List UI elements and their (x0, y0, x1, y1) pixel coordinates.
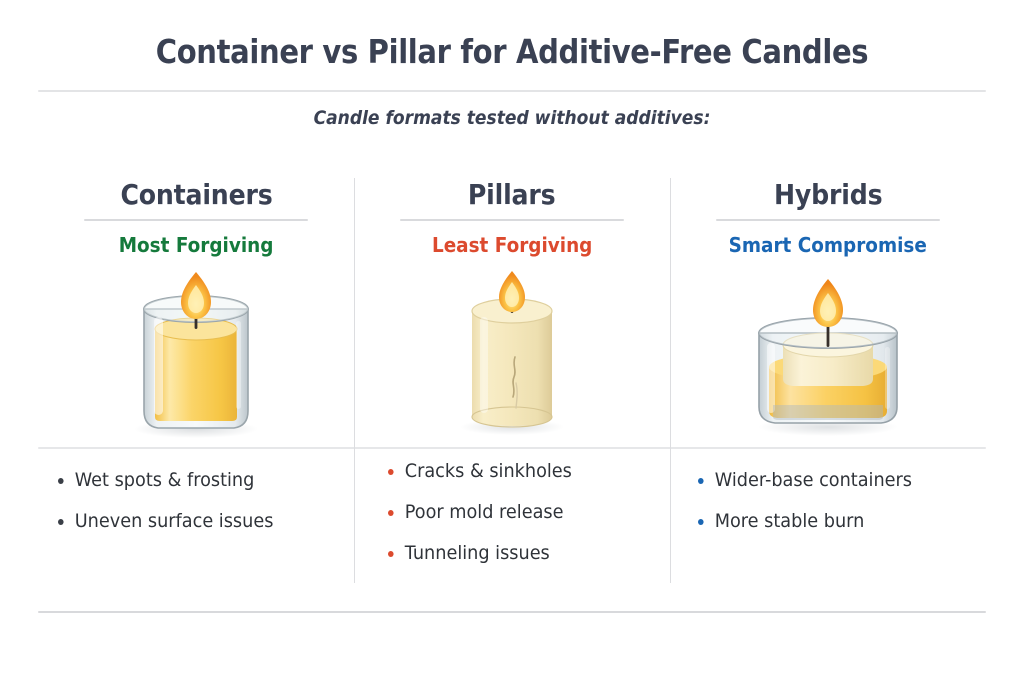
bullet-text: Uneven surface issues (75, 510, 274, 532)
page-title: Container vs Pillar for Additive-Free Ca… (61, 32, 962, 71)
column-containers: Containers Most Forgiving (38, 168, 354, 583)
column-hybrids: Hybrids Smart Compromise (670, 168, 986, 583)
column-heading-pillars: Pillars (468, 178, 556, 211)
bullet-text: Poor mold release (405, 501, 564, 523)
bullet-dot-icon (388, 469, 394, 475)
bullet-text: Tunneling issues (405, 542, 550, 564)
section-divider-bottom (38, 611, 986, 613)
column-verdict-containers: Most Forgiving (119, 233, 274, 257)
bullet-text: Wider-base containers (715, 469, 912, 491)
bullet-list-pillars: Cracks & sinkholes Poor mold release Tun… (354, 460, 670, 583)
bullet-list-hybrids: Wider-base containers More stable burn (670, 469, 986, 551)
title-divider (38, 90, 986, 92)
list-item: Wet spots & frosting (58, 469, 333, 491)
list-item: Uneven surface issues (58, 510, 333, 532)
infographic-page: Container vs Pillar for Additive-Free Ca… (0, 0, 1024, 683)
hybrid-wide-glass-candle-icon (670, 271, 986, 443)
column-pillars: Pillars Least Forgiving (354, 168, 670, 583)
list-item: More stable burn (698, 510, 966, 532)
page-subtitle: Candle formats tested without additives: (51, 107, 973, 129)
column-heading-rule (84, 219, 308, 221)
list-item: Poor mold release (388, 501, 650, 523)
column-heading-hybrids: Hybrids (774, 178, 882, 211)
bullet-dot-icon (698, 519, 704, 525)
bullet-dot-icon (58, 478, 64, 484)
bullet-dot-icon (698, 478, 704, 484)
column-heading-containers: Containers (120, 178, 272, 211)
bullet-list-containers: Wet spots & frosting Uneven surface issu… (38, 469, 354, 551)
bullet-dot-icon (58, 519, 64, 525)
column-verdict-pillars: Least Forgiving (432, 233, 592, 257)
column-heading-rule (716, 219, 940, 221)
list-item: Wider-base containers (698, 469, 966, 491)
list-item: Cracks & sinkholes (388, 460, 650, 482)
column-heading-rule (400, 219, 624, 221)
bullet-dot-icon (388, 551, 394, 557)
bullet-text: Cracks & sinkholes (405, 460, 572, 482)
bullet-text: More stable burn (715, 510, 865, 532)
bullet-text: Wet spots & frosting (75, 469, 255, 491)
column-verdict-hybrids: Smart Compromise (729, 233, 927, 257)
bullet-dot-icon (388, 510, 394, 516)
pillar-candle-icon (354, 271, 670, 434)
container-candle-jar-icon (38, 271, 354, 443)
comparison-columns: Containers Most Forgiving (38, 168, 986, 583)
list-item: Tunneling issues (388, 542, 650, 564)
